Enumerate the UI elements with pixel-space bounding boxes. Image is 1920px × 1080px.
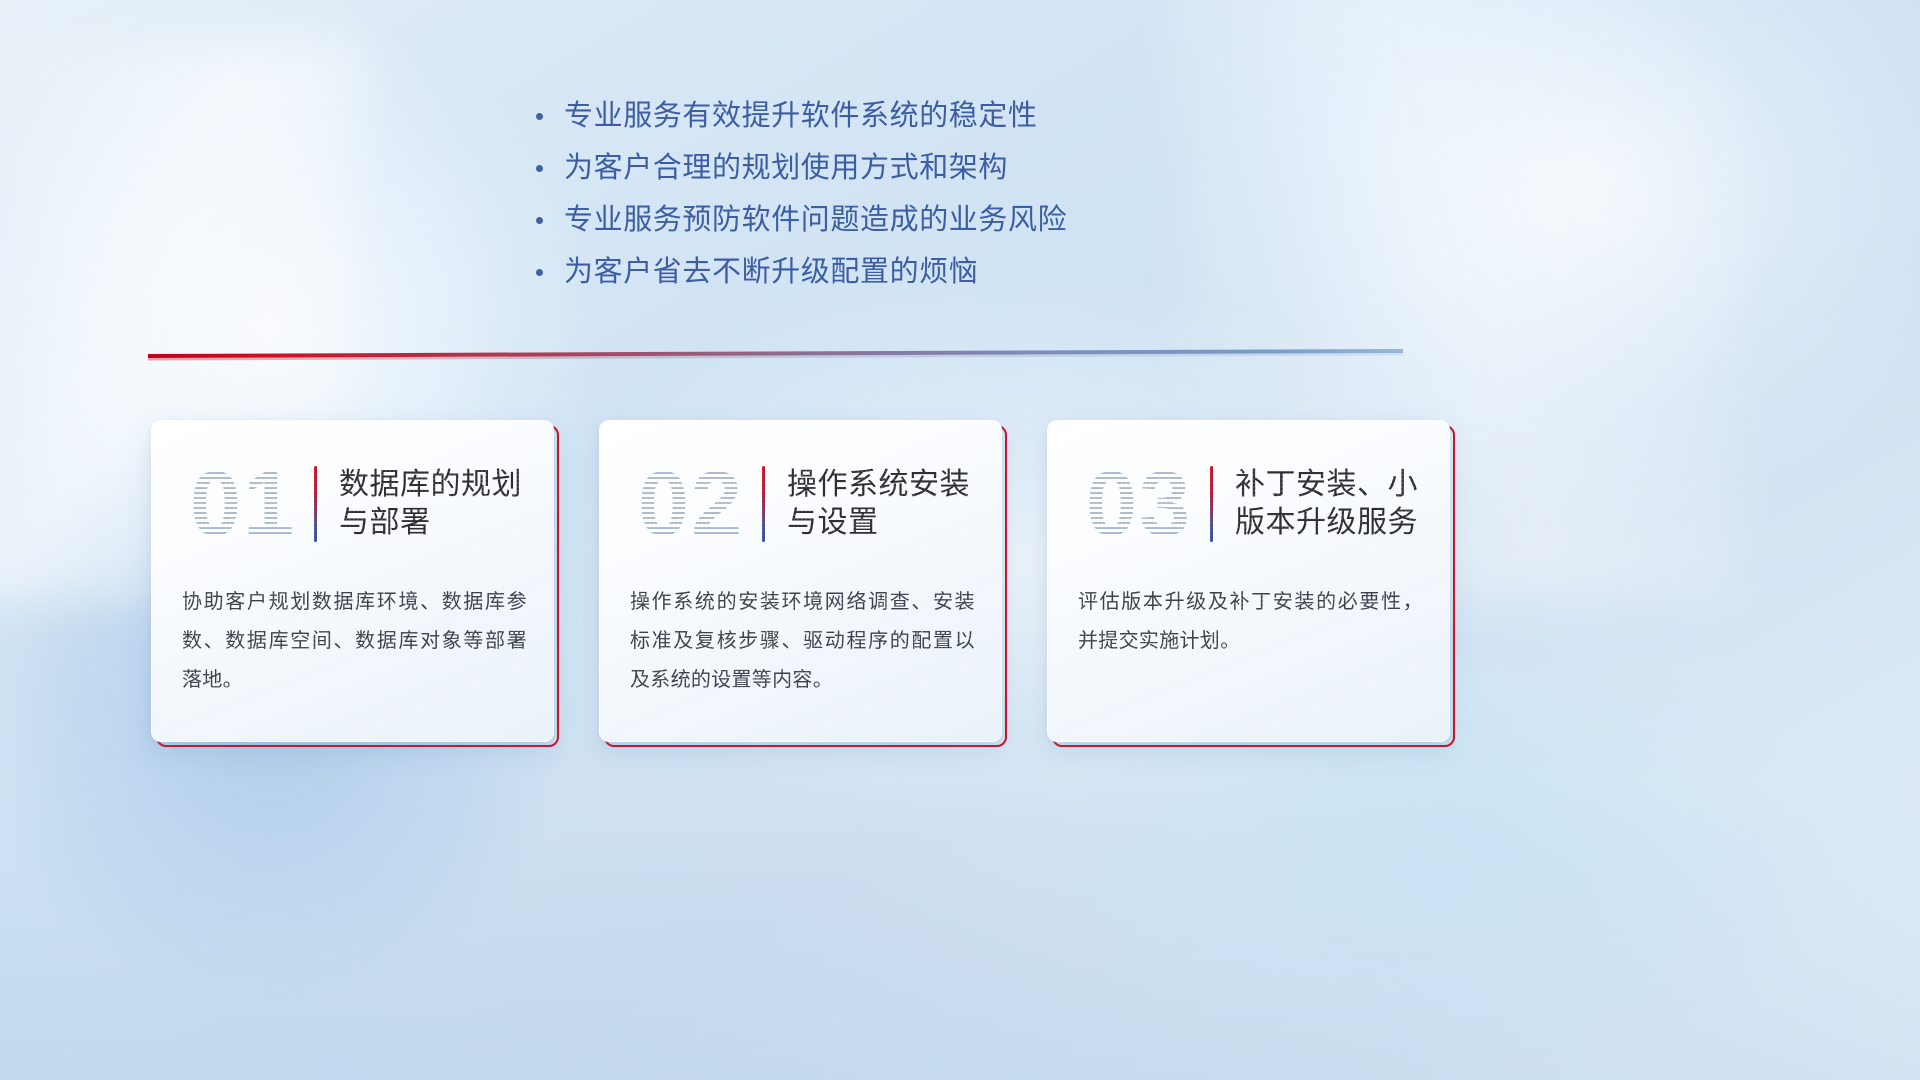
card-description: 操作系统的安装环境网络调查、安装标准及复核步骤、驱动程序的配置以及系统的设置等内…: [630, 583, 975, 700]
service-cards-row: 01 数据库的规划与部署 协助客户规划数据库环境、数据库参数、数据库空间、数据库…: [151, 420, 1451, 742]
card-title: 操作系统安装与设置: [787, 466, 1001, 542]
card-header: 02 操作系统安装与设置: [600, 439, 1001, 569]
card-description: 评估版本升级及补丁安装的必要性，并提交实施计划。: [1078, 583, 1423, 661]
service-card[interactable]: 01 数据库的规划与部署 协助客户规划数据库环境、数据库参数、数据库空间、数据库…: [151, 420, 554, 742]
bullet-item-label: 为客户合理的规划使用方式和架构: [564, 144, 1008, 186]
card-header: 03 补丁安装、小版本升级服务: [1048, 439, 1449, 569]
card-accent-bar: [762, 466, 765, 542]
bullet-dot-icon: [536, 269, 564, 276]
card-surface: 01 数据库的规划与部署 协助客户规划数据库环境、数据库参数、数据库空间、数据库…: [151, 420, 554, 742]
bullet-item: 专业服务预防软件问题造成的业务风险: [536, 196, 1356, 248]
card-surface: 02 操作系统安装与设置 操作系统的安装环境网络调查、安装标准及复核步骤、驱动程…: [599, 420, 1002, 742]
card-description: 协助客户规划数据库环境、数据库参数、数据库空间、数据库对象等部署落地。: [182, 583, 527, 700]
bullet-item-label: 专业服务预防软件问题造成的业务风险: [564, 196, 1067, 238]
card-title: 数据库的规划与部署: [339, 466, 553, 542]
background-bottom-shade: [0, 780, 1920, 1080]
card-title: 补丁安装、小版本升级服务: [1235, 466, 1449, 542]
card-number-watermark: 02: [620, 452, 762, 556]
card-header: 01 数据库的规划与部署: [152, 439, 553, 569]
bullet-dot-icon: [536, 113, 564, 120]
bullet-dot-icon: [536, 165, 564, 172]
bullet-item: 为客户合理的规划使用方式和架构: [536, 144, 1356, 196]
service-card[interactable]: 02 操作系统安装与设置 操作系统的安装环境网络调查、安装标准及复核步骤、驱动程…: [599, 420, 1002, 742]
card-accent-bar: [1210, 466, 1213, 542]
bullet-dot-icon: [536, 217, 564, 224]
card-surface: 03 补丁安装、小版本升级服务 评估版本升级及补丁安装的必要性，并提交实施计划。: [1047, 420, 1450, 742]
card-accent-bar: [314, 466, 317, 542]
bullet-item: 为客户省去不断升级配置的烦恼: [536, 248, 1356, 300]
service-card[interactable]: 03 补丁安装、小版本升级服务 评估版本升级及补丁安装的必要性，并提交实施计划。: [1047, 420, 1450, 742]
benefits-bullet-list: 专业服务有效提升软件系统的稳定性 为客户合理的规划使用方式和架构 专业服务预防软…: [536, 92, 1356, 300]
bullet-item-label: 专业服务有效提升软件系统的稳定性: [564, 92, 1038, 134]
card-number-watermark: 03: [1068, 452, 1210, 556]
bullet-item-label: 为客户省去不断升级配置的烦恼: [564, 248, 978, 290]
bullet-item: 专业服务有效提升软件系统的稳定性: [536, 92, 1356, 144]
card-number-watermark: 01: [172, 452, 314, 556]
